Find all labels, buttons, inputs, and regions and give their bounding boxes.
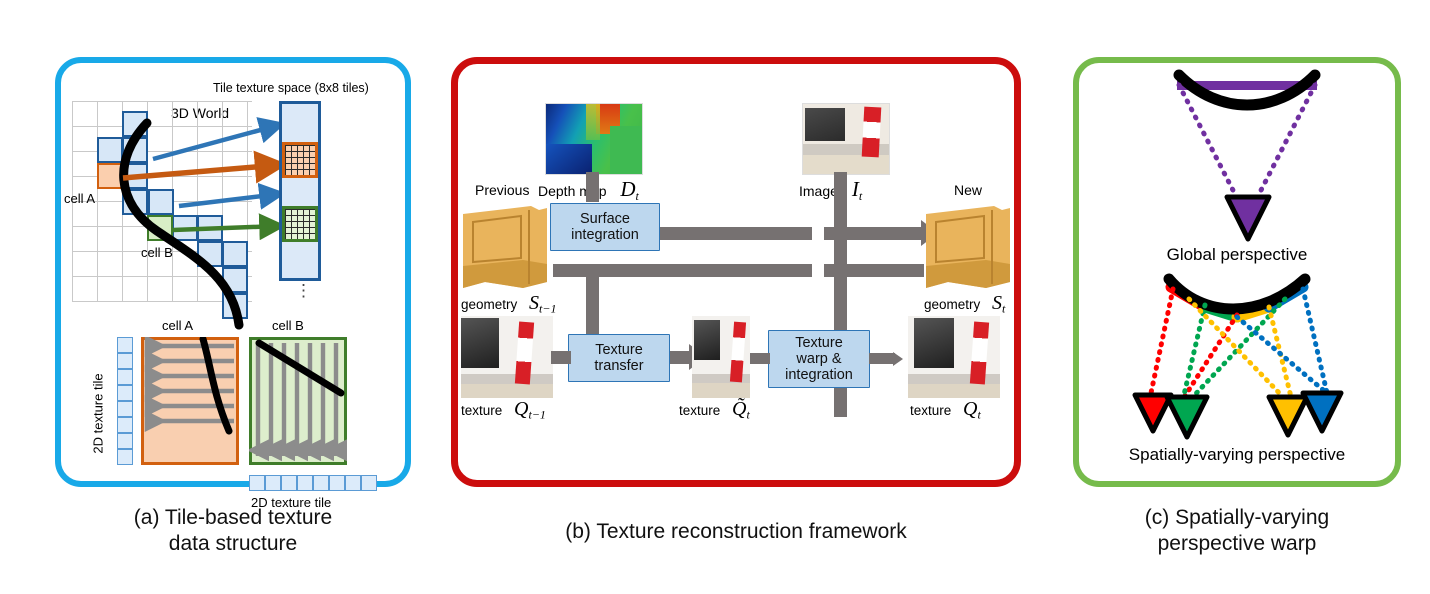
figure-root: Tile texture space (8x8 tiles) 3D World xyxy=(0,0,1430,594)
depth-to-surface-pipe xyxy=(586,172,599,202)
geometry-prev-subscript: t−1 xyxy=(539,302,556,316)
surface-integration-line1: Surface xyxy=(571,211,639,227)
tile-texture-cell-orange xyxy=(282,142,318,178)
midtexture-to-warp-bar xyxy=(750,353,770,364)
geometry-new-text: geometry xyxy=(924,297,980,312)
previous-geometry-mesh xyxy=(461,204,553,292)
horizontal-tile-strip xyxy=(249,475,377,491)
texture-warp-line3: integration xyxy=(785,367,853,383)
texture-transfer-line2: transfer xyxy=(594,358,643,374)
texture-transfer-box: Texture transfer xyxy=(568,334,670,382)
image-subscript: t xyxy=(859,189,862,203)
texture-warp-line1: Texture xyxy=(785,335,853,351)
texture-transfer-line1: Texture xyxy=(594,342,643,358)
caption-c-line2: perspective warp xyxy=(1073,531,1401,557)
geometry-prev-symbol: S xyxy=(529,292,539,314)
vertical-texture-tile-label: 2D texture tile xyxy=(91,366,106,462)
warp-out-arrow-head xyxy=(893,352,903,366)
texture-warp-integration-box: Texture warp & integration xyxy=(768,330,870,388)
prev-texture-to-transfer-bar xyxy=(551,351,571,364)
panel-c-spatially-varying-warp: Global perspective xyxy=(1073,57,1401,487)
previous-geometry-label: geometry St−1 xyxy=(461,292,556,317)
geometry-new-symbol: S xyxy=(992,292,1002,314)
caption-a-line2: data structure xyxy=(55,531,411,557)
new-geometry-label: geometry St xyxy=(924,292,1005,317)
texture-prev-subscript: t−1 xyxy=(529,408,546,422)
intermediate-texture-thumbnail xyxy=(692,316,750,398)
texture-new-symbol: Q xyxy=(963,398,977,420)
depth-map-subscript: t xyxy=(636,189,639,203)
caption-b: (b) Texture reconstruction framework xyxy=(451,519,1021,545)
panel-b-texture-reconstruction: Depth map Dt Image It Previous New geome… xyxy=(451,57,1021,487)
cell-b-scan-arrows xyxy=(249,337,347,465)
caption-a-line1: (a) Tile-based texture xyxy=(55,505,411,531)
spatially-varying-label: Spatially-varying perspective xyxy=(1079,445,1395,465)
image-symbol: I xyxy=(852,177,859,201)
cell-a-label: cell A xyxy=(64,191,95,206)
texture-prev-text: texture xyxy=(461,403,502,418)
texture-mid-symbol: Q̃ xyxy=(732,398,746,420)
new-label: New xyxy=(954,182,982,198)
cell-a-bottom-label: cell A xyxy=(162,318,193,333)
texture-mid-text: texture xyxy=(679,403,720,418)
cell-a-scan-arrows xyxy=(141,337,239,465)
global-perspective-label: Global perspective xyxy=(1079,245,1395,265)
depth-map-symbol: D xyxy=(620,177,635,201)
surface-to-texture-pipe xyxy=(586,264,599,334)
new-texture-label: texture Qt xyxy=(910,398,981,423)
input-image-thumbnail xyxy=(803,104,889,174)
warp-out-bar xyxy=(869,353,895,364)
caption-c-line1: (c) Spatially-varying xyxy=(1073,505,1401,531)
surface-integration-box: Surface integration xyxy=(550,203,660,251)
geometry-new-subscript: t xyxy=(1002,302,1005,316)
depth-map-thumbnail xyxy=(546,104,642,174)
intermediate-texture-label: texture Q̃t xyxy=(679,398,750,423)
image-text: Image xyxy=(799,183,838,199)
texture-new-text: texture xyxy=(910,403,951,418)
tile-mapping-arrows xyxy=(61,63,417,363)
tile-texture-strip xyxy=(279,101,321,281)
surface-integration-line2: integration xyxy=(571,227,639,243)
vertical-tile-strip xyxy=(117,337,133,465)
previous-texture-label: texture Qt−1 xyxy=(461,398,546,423)
panel-a-tile-based-texture: Tile texture space (8x8 tiles) 3D World xyxy=(55,57,411,487)
global-perspective-diagram xyxy=(1079,63,1395,263)
new-texture-thumbnail xyxy=(908,316,1000,398)
previous-texture-thumbnail xyxy=(461,316,553,398)
new-geometry-mesh xyxy=(924,204,1016,292)
caption-c: (c) Spatially-varying perspective warp xyxy=(1073,505,1401,556)
caption-a: (a) Tile-based texture data structure xyxy=(55,505,411,556)
texture-prev-symbol: Q xyxy=(514,398,528,420)
tile-texture-cell-green xyxy=(282,206,318,242)
spatially-varying-diagram xyxy=(1079,273,1395,453)
previous-label: Previous xyxy=(475,182,529,198)
texture-new-subscript: t xyxy=(978,408,981,422)
strip-ellipsis: ⋮ xyxy=(295,281,312,301)
image-label: Image It xyxy=(799,177,862,204)
texture-warp-line2: warp & xyxy=(785,351,853,367)
surface-out-bar xyxy=(646,227,812,240)
cell-b-bottom-label: cell B xyxy=(272,318,304,333)
geometry-prev-text: geometry xyxy=(461,297,517,312)
texture-mid-subscript: t xyxy=(747,408,750,422)
cell-b-label: cell B xyxy=(141,245,173,260)
